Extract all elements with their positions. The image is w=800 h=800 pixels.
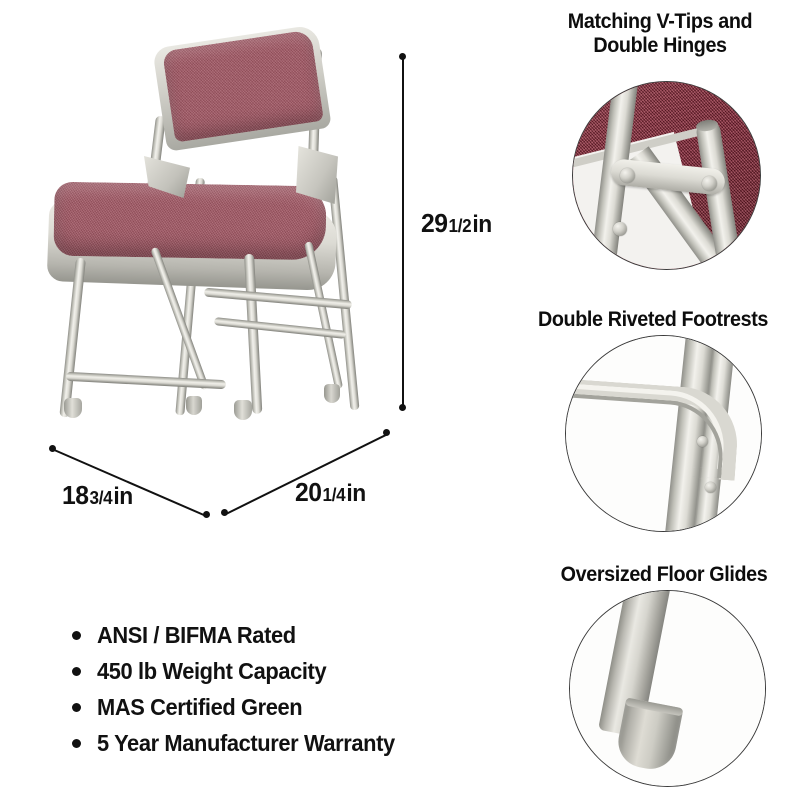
callout-image-glides bbox=[569, 590, 766, 787]
feature-list: ANSI / BIFMA Rated 450 lb Weight Capacit… bbox=[72, 622, 492, 766]
height-dimension-dot-bottom bbox=[399, 404, 406, 411]
height-dimension-dot-top bbox=[399, 53, 406, 60]
list-item: 450 lb Weight Capacity bbox=[72, 658, 492, 685]
hinge-rivet-left bbox=[620, 168, 635, 183]
height-dimension-label: 291/2in bbox=[421, 208, 492, 239]
height-fraction: 1/2 bbox=[448, 216, 473, 236]
bullet-icon bbox=[72, 667, 81, 676]
bullet-icon bbox=[72, 739, 81, 748]
width-whole-number: 20 bbox=[295, 477, 322, 507]
height-unit: in bbox=[472, 211, 491, 238]
callout-title-footrests: Double Riveted Footrests bbox=[521, 308, 784, 332]
list-item: ANSI / BIFMA Rated bbox=[72, 622, 492, 649]
chair-glide-rear-right bbox=[324, 384, 340, 403]
hinge-rivet-lower bbox=[613, 222, 627, 236]
chair-product-image bbox=[28, 28, 418, 428]
feature-label: 450 lb Weight Capacity bbox=[97, 658, 326, 685]
bullet-icon bbox=[72, 703, 81, 712]
width-dimension-label: 201/4in bbox=[295, 477, 366, 508]
depth-whole-number: 18 bbox=[62, 480, 89, 510]
footrest-rivet-lower bbox=[705, 482, 716, 493]
width-fraction: 1/4 bbox=[322, 485, 347, 505]
feature-label: MAS Certified Green bbox=[97, 694, 302, 721]
hinge-rivet-right bbox=[702, 176, 717, 191]
chair-glide-rear-left bbox=[186, 396, 202, 415]
callout-title-hinges-line2: Double Hinges bbox=[532, 34, 788, 58]
callout-title-glides: Oversized Floor Glides bbox=[536, 563, 792, 587]
callout-title-glides-line1: Oversized Floor Glides bbox=[536, 563, 792, 587]
feature-label: ANSI / BIFMA Rated bbox=[97, 622, 296, 649]
footrest-rivet-upper bbox=[697, 436, 708, 447]
infographic-page: 291/2in 183/4in 201/4in ANSI / BIFMA Rat… bbox=[0, 0, 800, 800]
depth-dimension-dot-end bbox=[203, 511, 210, 518]
width-unit: in bbox=[346, 480, 365, 507]
depth-fraction: 3/4 bbox=[89, 488, 114, 508]
callout-title-hinges: Matching V-Tips and Double Hinges bbox=[532, 10, 788, 57]
depth-dimension-dot-start bbox=[49, 445, 56, 452]
depth-unit: in bbox=[113, 483, 132, 510]
chair-footrest-rail-rear bbox=[204, 288, 352, 310]
callout-title-hinges-line1: Matching V-Tips and bbox=[532, 10, 788, 34]
callout-image-footrests bbox=[565, 335, 762, 532]
height-whole-number: 29 bbox=[421, 208, 448, 238]
bullet-icon bbox=[72, 631, 81, 640]
chair-glide-front-left bbox=[64, 398, 82, 418]
chair-seat-cushion bbox=[53, 182, 326, 261]
list-item: MAS Certified Green bbox=[72, 694, 492, 721]
width-dimension-dot-start bbox=[221, 509, 228, 516]
height-dimension-line bbox=[402, 57, 404, 407]
callout-image-hinges bbox=[572, 81, 761, 270]
list-item: 5 Year Manufacturer Warranty bbox=[72, 730, 492, 757]
depth-dimension-label: 183/4in bbox=[62, 480, 133, 511]
callout-title-footrests-line1: Double Riveted Footrests bbox=[521, 308, 784, 332]
chair-glide-front-right bbox=[234, 400, 252, 420]
feature-label: 5 Year Manufacturer Warranty bbox=[97, 730, 395, 757]
width-dimension-dot-end bbox=[383, 429, 390, 436]
